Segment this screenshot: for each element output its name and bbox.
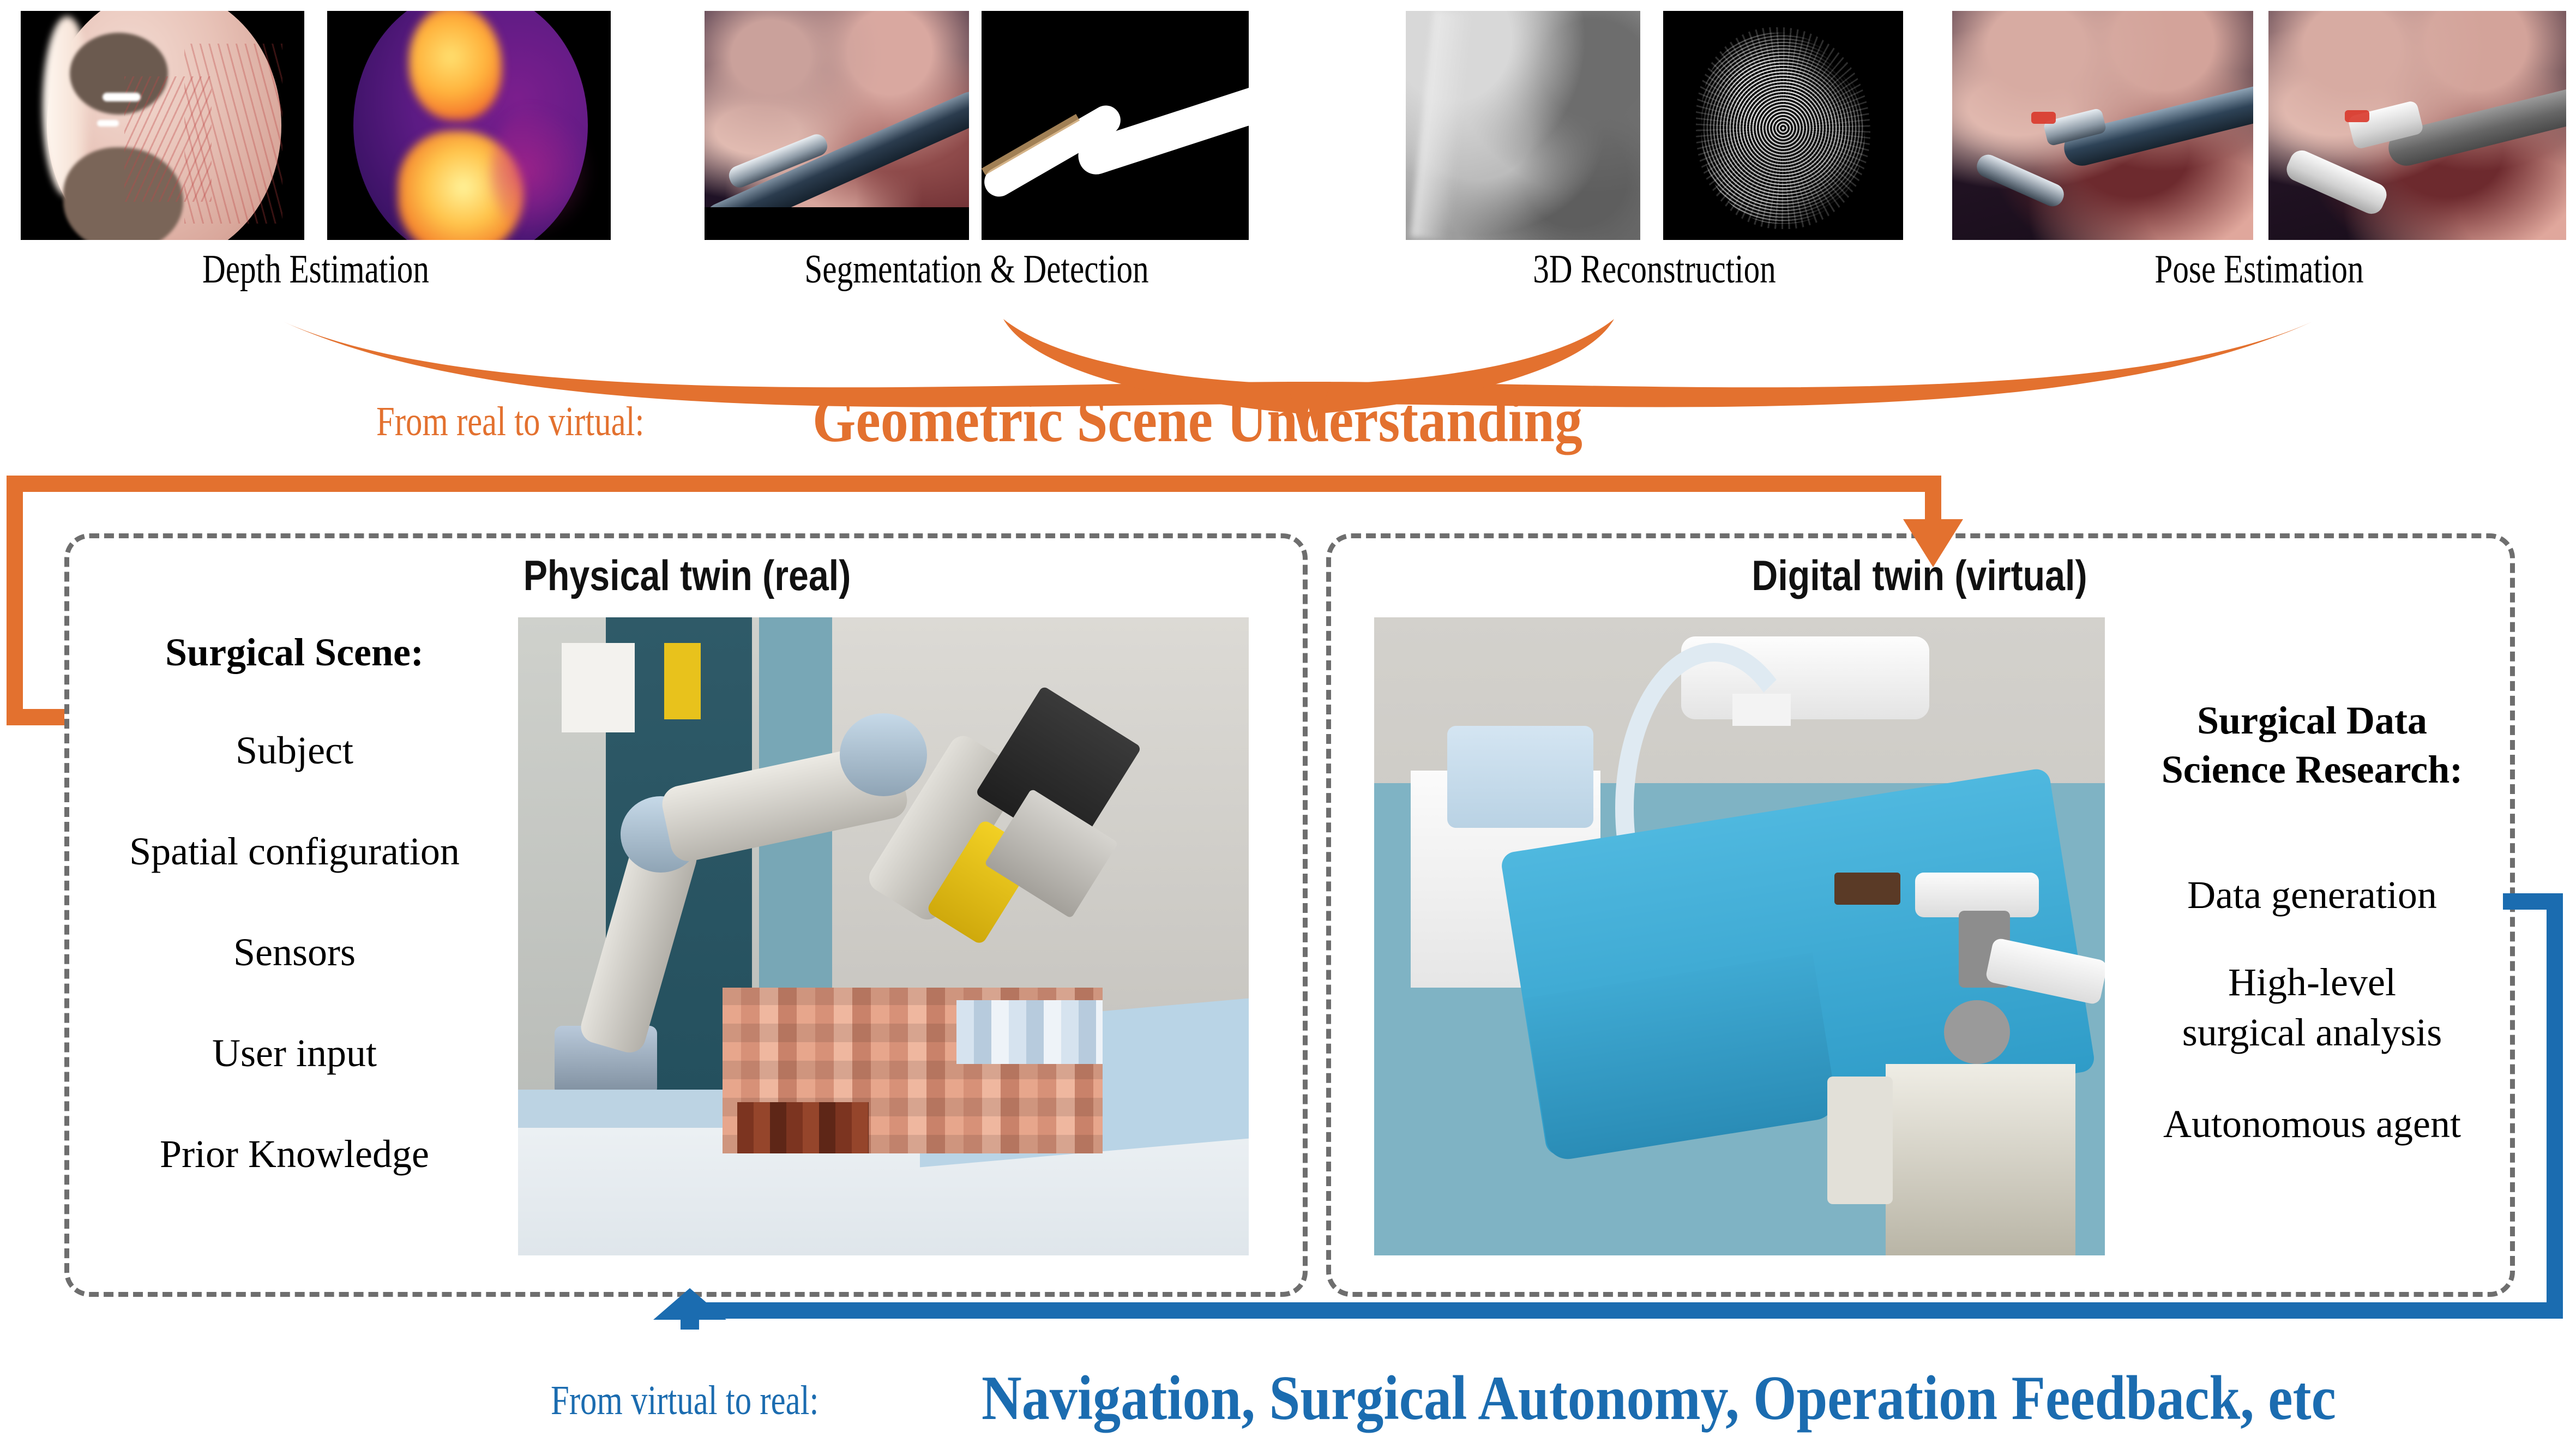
from-virtual-to-real-label: From virtual to real: xyxy=(551,1377,818,1424)
figure-canvas: Depth Estimation Segmentation & Detectio… xyxy=(0,0,2576,1449)
bottom-title: Navigation, Surgical Autonomy, Operation… xyxy=(982,1362,2336,1435)
physical-list-item-prior-knowledge: Prior Knowledge xyxy=(87,1132,502,1177)
surgical-data-science-heading-line1: Surgical Data xyxy=(2143,698,2481,743)
thumb-instrument-pose-overlay xyxy=(2268,11,2566,240)
thumb-depth-map-heatmap xyxy=(327,11,611,240)
geometric-scene-understanding-title: Geometric Scene Understanding xyxy=(812,384,1582,457)
physical-list-item-subject: Subject xyxy=(98,728,491,773)
digital-list-item-high-level: High-level xyxy=(2132,960,2492,1005)
thumb-laparoscopic-rgb-frame xyxy=(705,11,969,240)
thumb-surgical-scene-frame xyxy=(1952,11,2253,240)
physical-list-item-sensors: Sensors xyxy=(98,930,491,975)
thumb-point-cloud-render xyxy=(1663,11,1903,240)
surgical-scene-heading: Surgical Scene: xyxy=(98,630,491,675)
digital-list-item-autonomous-agent: Autonomous agent xyxy=(2116,1102,2508,1147)
surgical-data-science-heading-line2: Science Research: xyxy=(2143,747,2481,792)
thumb-binary-instrument-mask xyxy=(982,11,1249,240)
physical-list-item-spatial-configuration: Spatial configuration xyxy=(76,829,513,874)
physical-twin-title: Physical twin (real) xyxy=(363,551,1012,600)
thumb-endoscopic-rgb-frame xyxy=(21,11,304,240)
caption-depth-estimation: Depth Estimation xyxy=(80,246,552,293)
digital-list-item-data-generation: Data generation xyxy=(2132,873,2492,918)
simulated-operating-room-render xyxy=(1374,617,2105,1255)
thumb-grayscale-tissue-frame xyxy=(1406,11,1640,240)
caption-3d-reconstruction: 3D Reconstruction xyxy=(1455,246,1853,293)
caption-pose-estimation: Pose Estimation xyxy=(2014,246,2505,293)
from-real-to-virtual-label: From real to virtual: xyxy=(376,398,644,446)
operating-room-robot-arm-photo xyxy=(518,617,1249,1255)
physical-list-item-user-input: User input xyxy=(98,1031,491,1076)
digital-list-item-surgical-analysis: surgical analysis xyxy=(2132,1010,2492,1055)
digital-twin-title: Digital twin (virtual) xyxy=(1567,551,2272,600)
caption-segmentation-detection: Segmentation & Detection xyxy=(759,246,1194,293)
